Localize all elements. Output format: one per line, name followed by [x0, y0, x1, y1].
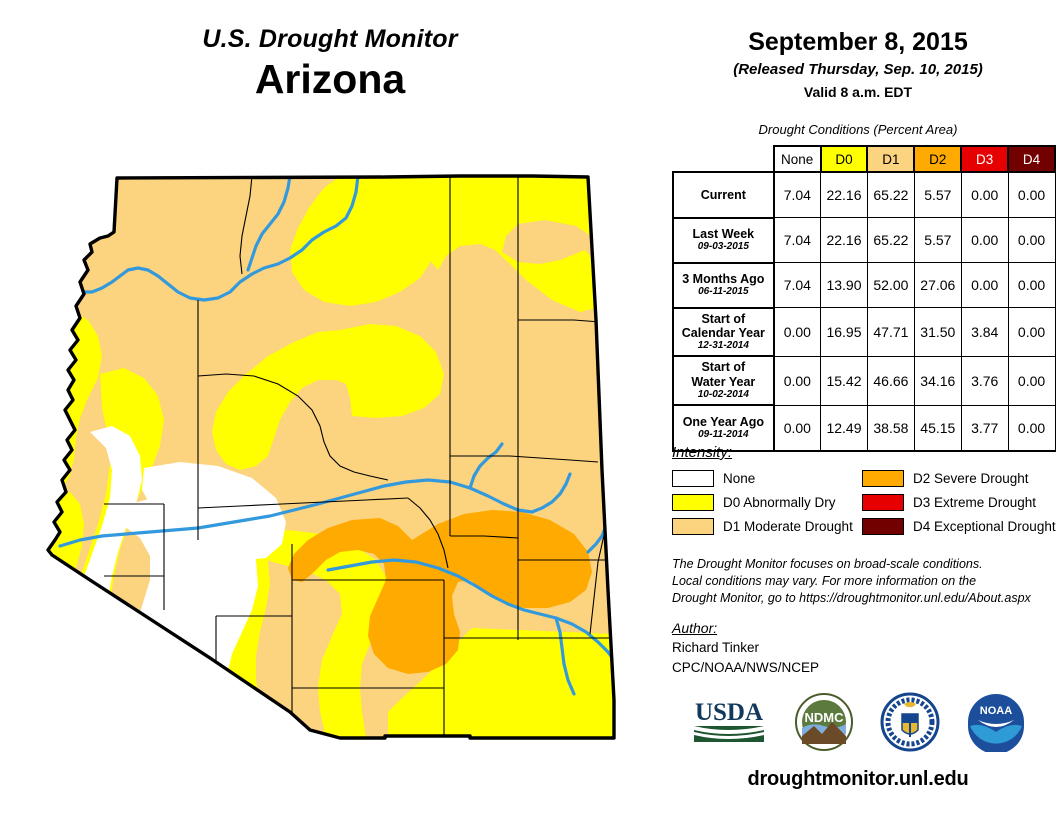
- map-title-main: U.S. Drought Monitor: [0, 26, 660, 54]
- disclaimer-line-2: Local conditions may vary. For more info…: [672, 573, 1052, 590]
- table-row: Last Week 09-03-2015 7.04 22.16 65.22 5.…: [673, 218, 1055, 263]
- release-date: (Released Thursday, Sep. 10, 2015): [660, 61, 1056, 79]
- legend-label-none: None: [723, 471, 755, 486]
- row-label-last-week: Last Week 09-03-2015: [673, 218, 774, 263]
- legend-swatch-d2: [862, 470, 904, 487]
- legend-item-d1: D1 Moderate Drought: [672, 518, 862, 535]
- ndmc-logo[interactable]: NDMC: [794, 692, 854, 757]
- valid-time: Valid 8 a.m. EDT: [660, 84, 1056, 101]
- cell-1yr-none: 0.00: [774, 405, 821, 451]
- cell-cy-none: 0.00: [774, 308, 821, 357]
- usdc-seal-shield-chief: [902, 714, 918, 723]
- table-body: Current 7.04 22.16 65.22 5.57 0.00 0.00 …: [673, 172, 1055, 451]
- table-row: Start of Water Year 10-02-2014 0.00 15.4…: [673, 356, 1055, 405]
- table-row: 3 Months Ago 06-11-2015 7.04 13.90 52.00…: [673, 263, 1055, 308]
- column-header-none: None: [774, 146, 821, 172]
- legend-label-d3: D3 Extreme Drought: [913, 495, 1036, 510]
- table-corner-cell: [673, 146, 774, 172]
- cell-1yr-d4: 0.00: [1008, 405, 1055, 451]
- row-label-text: Last Week: [676, 227, 771, 241]
- cell-wy-none: 0.00: [774, 356, 821, 405]
- cell-1yr-d2: 45.15: [914, 405, 961, 451]
- cell-wy-d3: 3.76: [961, 356, 1008, 405]
- cell-current-d1: 65.22: [867, 172, 914, 218]
- ndmc-logo-text: NDMC: [805, 710, 845, 725]
- table-header-row: None D0 D1 D2 D3 D4: [673, 146, 1055, 172]
- disclaimer-line-1: The Drought Monitor focuses on broad-sca…: [672, 556, 1052, 573]
- cell-cy-d2: 31.50: [914, 308, 961, 357]
- disclaimer-text: The Drought Monitor focuses on broad-sca…: [672, 556, 1052, 607]
- author-heading: Author:: [672, 620, 717, 636]
- map-panel: U.S. Drought Monitor Arizona: [0, 0, 660, 816]
- row-label-date: 10-02-2014: [676, 389, 771, 401]
- report-date: September 8, 2015: [660, 28, 1056, 57]
- cell-3mo-none: 7.04: [774, 263, 821, 308]
- column-header-d2: D2: [914, 146, 961, 172]
- cell-last-week-d0: 22.16: [821, 218, 868, 263]
- cell-last-week-d2: 5.57: [914, 218, 961, 263]
- legend-label-d2: D2 Severe Drought: [913, 471, 1029, 486]
- row-label-date: 12-31-2014: [676, 340, 771, 352]
- cell-wy-d1: 46.66: [867, 356, 914, 405]
- row-label-date: 09-11-2014: [676, 429, 771, 441]
- map-title-state: Arizona: [0, 58, 660, 101]
- intensity-heading: Intensity:: [672, 444, 732, 461]
- cell-wy-d0: 15.42: [821, 356, 868, 405]
- cell-cy-d0: 16.95: [821, 308, 868, 357]
- map-title-block: U.S. Drought Monitor Arizona: [0, 26, 660, 101]
- row-label-text-line1: Start of: [676, 312, 771, 326]
- legend-swatch-none: [672, 470, 714, 487]
- cell-current-d3: 0.00: [961, 172, 1008, 218]
- noaa-logo-text: NOAA: [980, 705, 1012, 717]
- cell-3mo-d3: 0.00: [961, 263, 1008, 308]
- cell-wy-d4: 0.00: [1008, 356, 1055, 405]
- intensity-legend: None D2 Severe Drought D0 Abnormally Dry…: [672, 466, 1052, 538]
- table-row: Current 7.04 22.16 65.22 5.57 0.00 0.00: [673, 172, 1055, 218]
- author-block: Richard Tinker CPC/NOAA/NWS/NCEP: [672, 638, 819, 677]
- row-label-3-months-ago: 3 Months Ago 06-11-2015: [673, 263, 774, 308]
- cell-3mo-d2: 27.06: [914, 263, 961, 308]
- row-label-text-line2: Water Year: [676, 375, 771, 389]
- legend-item-d2: D2 Severe Drought: [862, 470, 1052, 487]
- cell-1yr-d3: 3.77: [961, 405, 1008, 451]
- table-caption: Drought Conditions (Percent Area): [660, 122, 1056, 137]
- row-label-start-calendar-year: Start of Calendar Year 12-31-2014: [673, 308, 774, 357]
- usda-logo-text: USDA: [695, 699, 763, 726]
- cell-last-week-none: 7.04: [774, 218, 821, 263]
- info-panel: September 8, 2015 (Released Thursday, Se…: [660, 0, 1056, 816]
- row-label-text: 3 Months Ago: [676, 272, 771, 286]
- column-header-d4: D4: [1008, 146, 1055, 172]
- cell-cy-d3: 3.84: [961, 308, 1008, 357]
- cell-cy-d4: 0.00: [1008, 308, 1055, 357]
- row-label-text: Current: [676, 188, 771, 202]
- arizona-drought-map[interactable]: [40, 140, 660, 800]
- row-label-text: One Year Ago: [676, 415, 771, 429]
- cell-wy-d2: 34.16: [914, 356, 961, 405]
- row-label-text-line1: Start of: [676, 360, 771, 374]
- cell-last-week-d3: 0.00: [961, 218, 1008, 263]
- cell-cy-d1: 47.71: [867, 308, 914, 357]
- legend-swatch-d3: [862, 494, 904, 511]
- legend-item-d3: D3 Extreme Drought: [862, 494, 1052, 511]
- column-header-d1: D1: [867, 146, 914, 172]
- noaa-logo[interactable]: NOAA: [966, 692, 1026, 757]
- drought-conditions-table: None D0 D1 D2 D3 D4 Current 7.04 22.16 6…: [672, 145, 1056, 452]
- column-header-d3: D3: [961, 146, 1008, 172]
- legend-item-d4: D4 Exceptional Drought: [862, 518, 1052, 535]
- author-affiliation: CPC/NOAA/NWS/NCEP: [672, 658, 819, 678]
- column-header-d0: D0: [821, 146, 868, 172]
- legend-item-d0: D0 Abnormally Dry: [672, 494, 862, 511]
- cell-current-d2: 5.57: [914, 172, 961, 218]
- legend-item-none: None: [672, 470, 862, 487]
- cell-current-d0: 22.16: [821, 172, 868, 218]
- row-label-text-line2: Calendar Year: [676, 326, 771, 340]
- table-row: Start of Calendar Year 12-31-2014 0.00 1…: [673, 308, 1055, 357]
- logo-row: USDA NDMC: [660, 692, 1056, 757]
- cell-last-week-d4: 0.00: [1008, 218, 1055, 263]
- site-url[interactable]: droughtmonitor.unl.edu: [660, 768, 1056, 791]
- cell-3mo-d4: 0.00: [1008, 263, 1055, 308]
- usda-logo[interactable]: USDA: [690, 694, 768, 755]
- legend-swatch-d0: [672, 494, 714, 511]
- author-name: Richard Tinker: [672, 638, 819, 658]
- legend-swatch-d1: [672, 518, 714, 535]
- legend-label-d0: D0 Abnormally Dry: [723, 495, 836, 510]
- cell-3mo-d0: 13.90: [821, 263, 868, 308]
- usdc-seal-mast: [909, 723, 911, 737]
- row-label-date: 06-11-2015: [676, 286, 771, 298]
- date-block: September 8, 2015 (Released Thursday, Se…: [660, 28, 1056, 101]
- disclaimer-line-3: Drought Monitor, go to https://droughtmo…: [672, 590, 1052, 607]
- row-label-date: 09-03-2015: [676, 241, 771, 253]
- cell-last-week-d1: 65.22: [867, 218, 914, 263]
- usdc-seal[interactable]: [880, 692, 940, 757]
- row-label-current: Current: [673, 172, 774, 218]
- row-label-start-water-year: Start of Water Year 10-02-2014: [673, 356, 774, 405]
- cell-1yr-d1: 38.58: [867, 405, 914, 451]
- cell-current-d4: 0.00: [1008, 172, 1055, 218]
- cell-3mo-d1: 52.00: [867, 263, 914, 308]
- legend-label-d4: D4 Exceptional Drought: [913, 519, 1056, 534]
- cell-1yr-d0: 12.49: [821, 405, 868, 451]
- legend-label-d1: D1 Moderate Drought: [723, 519, 853, 534]
- river-colorado-west: [40, 278, 52, 282]
- cell-current-none: 7.04: [774, 172, 821, 218]
- legend-swatch-d4: [862, 518, 904, 535]
